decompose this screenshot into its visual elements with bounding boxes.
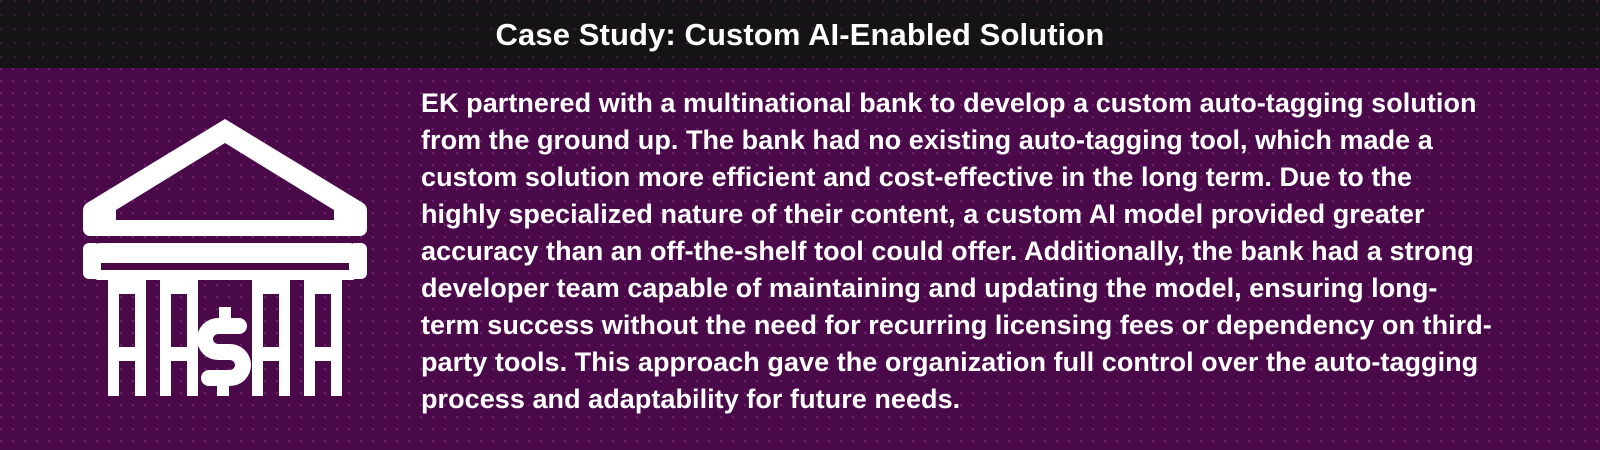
- case-study-paragraph: EK partnered with a multinational bank t…: [421, 85, 1555, 418]
- page-title: Case Study: Custom AI-Enabled Solution: [496, 19, 1105, 50]
- paragraph-line: party tools. This approach gave the orga…: [421, 344, 1555, 381]
- paragraph-line: highly specialized nature of their conte…: [421, 196, 1555, 233]
- illustration-container: [80, 106, 370, 396]
- paragraph-line: process and adaptability for future need…: [421, 381, 1555, 418]
- paragraph-line: EK partnered with a multinational bank t…: [421, 85, 1555, 122]
- paragraph-line: custom solution more efficient and cost-…: [421, 159, 1555, 196]
- case-study-slide: Case Study: Custom AI-Enabled Solution: [0, 0, 1600, 450]
- paragraph-line: developer team capable of maintaining an…: [421, 270, 1555, 307]
- paragraph-line: accuracy than an off-the-shelf tool coul…: [421, 233, 1555, 270]
- bank-building-dollar-icon: [80, 106, 370, 396]
- body-area: EK partnered with a multinational bank t…: [0, 68, 1600, 450]
- paragraph-line: term success without the need for recurr…: [421, 307, 1555, 344]
- paragraph-line: from the ground up. The bank had no exis…: [421, 122, 1555, 159]
- dollar-sign-glyph: [197, 307, 251, 396]
- header-band: Case Study: Custom AI-Enabled Solution: [0, 0, 1600, 68]
